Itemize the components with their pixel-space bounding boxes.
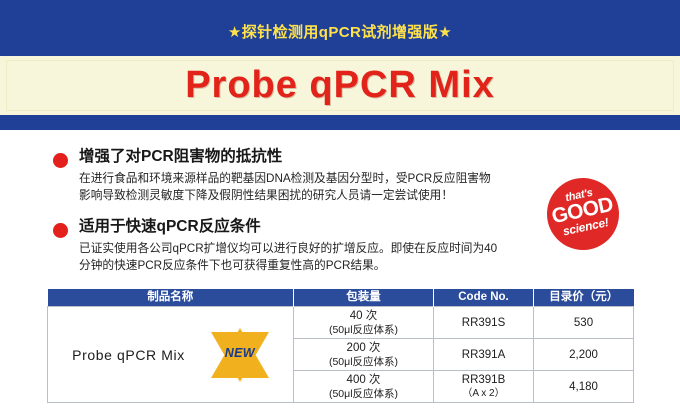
feature-heading: 增强了对PCR阻害物的抵抗性: [79, 147, 680, 167]
feature-body-line: 已证实使用各公司qPCR扩增仪均可以进行良好的扩增反应。即使在反应时间为40: [79, 241, 579, 258]
code-no-sub: （A x 2）: [434, 387, 533, 401]
package-size-cell: 400 次 (50μl反应体系): [294, 371, 434, 403]
bullet-dot-icon: [53, 153, 68, 168]
column-header-code-no: Code No.: [434, 289, 534, 307]
column-header-package-size: 包装量: [294, 289, 434, 307]
package-qty: 40 次: [294, 309, 433, 323]
feature-body: 已证实使用各公司qPCR扩增仪均可以进行良好的扩增反应。即使在反应时间为40 分…: [79, 241, 579, 274]
title-plate: Probe qPCR Mix: [0, 56, 680, 115]
product-table: 制品名称 包装量 Code No. 目录价（元） Probe qPCR Mix: [47, 289, 634, 403]
package-size-cell: 200 次 (50μl反应体系): [294, 339, 434, 371]
package-qty: 200 次: [294, 341, 433, 355]
bullet-dot-icon: [53, 223, 68, 238]
code-no-main: RR391B: [434, 373, 533, 387]
code-no-cell: RR391B （A x 2）: [434, 371, 534, 403]
feature-body-line: 在进行食品和环境来源样品的靶基因DNA检测及基因分型时，受PCR反应阻害物: [79, 171, 579, 188]
package-volume: (50μl反应体系): [294, 355, 433, 369]
column-header-list-price: 目录价（元）: [534, 289, 634, 307]
list-price-cell: 530: [534, 307, 634, 339]
table-header-row: 制品名称 包装量 Code No. 目录价（元）: [48, 289, 634, 307]
product-name-label: Probe qPCR Mix: [72, 347, 185, 363]
package-qty: 400 次: [294, 373, 433, 387]
new-star-badge-icon: NEW: [211, 326, 269, 384]
product-table-wrapper: 制品名称 包装量 Code No. 目录价（元） Probe qPCR Mix: [47, 289, 633, 403]
package-volume: (50μl反应体系): [294, 323, 433, 337]
list-price-cell: 2,200: [534, 339, 634, 371]
product-title: Probe qPCR Mix: [0, 64, 680, 106]
list-price-cell: 4,180: [534, 371, 634, 403]
package-size-cell: 40 次 (50μl反应体系): [294, 307, 434, 339]
feature-body: 在进行食品和环境来源样品的靶基因DNA检测及基因分型时，受PCR反应阻害物 影响…: [79, 171, 579, 204]
package-volume: (50μl反应体系): [294, 387, 433, 401]
code-no-cell: RR391S: [434, 307, 534, 339]
new-badge-label: NEW: [211, 346, 269, 360]
feature-body-line: 分钟的快速PCR反应条件下也可获得重复性高的PCR结果。: [79, 258, 579, 275]
product-flyer: ★探针检测用qPCR试剂增强版★ Probe qPCR Mix 增强了对PCR阻…: [0, 0, 680, 408]
code-no-cell: RR391A: [434, 339, 534, 371]
header-banner: ★探针检测用qPCR试剂增强版★ Probe qPCR Mix: [0, 0, 680, 130]
product-name-cell: Probe qPCR Mix NEW: [48, 307, 294, 403]
feature-body-line: 影响导致检测灵敏度下降及假阴性结果困扰的研究人员请一定尝试使用！: [79, 188, 579, 205]
column-header-product-name: 制品名称: [48, 289, 294, 307]
banner-tagline: ★探针检测用qPCR试剂增强版★: [0, 23, 680, 43]
table-row: Probe qPCR Mix NEW 40 次 (50μl反应体系) RR3: [48, 307, 634, 339]
